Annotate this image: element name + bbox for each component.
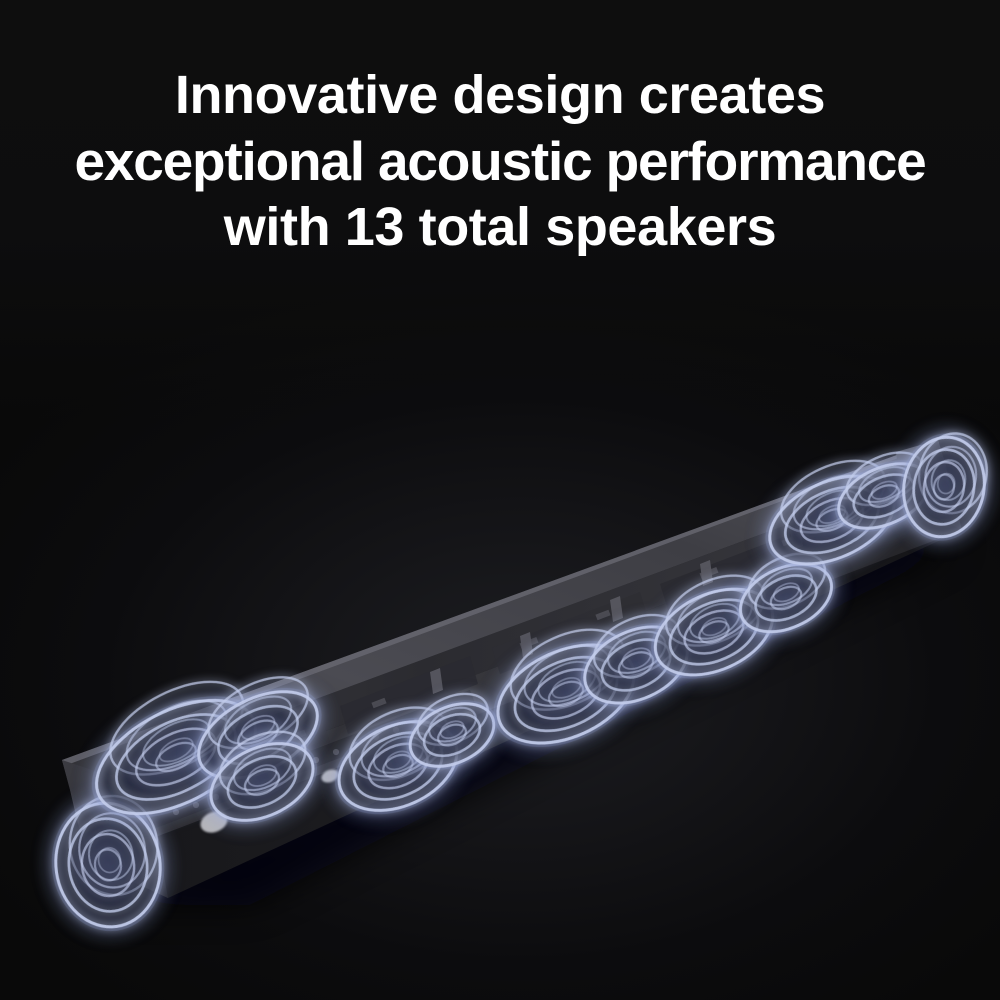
hero-canvas: Innovative design creates exceptional ac… bbox=[0, 0, 1000, 1000]
product-image bbox=[0, 0, 1000, 1000]
soundbar-illustration bbox=[0, 0, 1000, 1000]
